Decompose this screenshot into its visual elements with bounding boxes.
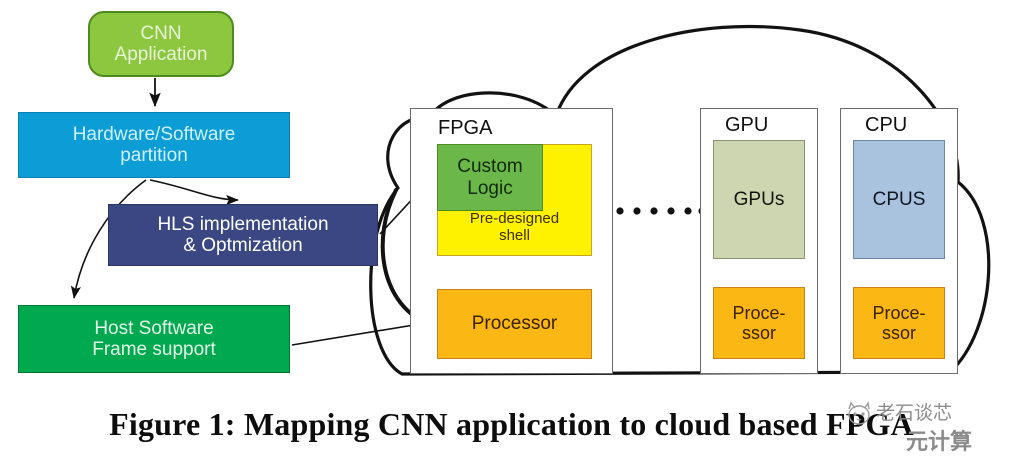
cnn-application-line1: CNN — [90, 23, 232, 44]
gpu-processor-line2: ssor — [714, 323, 804, 343]
cpu-compute-label: CPUS — [854, 189, 944, 210]
node-host-software[interactable]: Host Software Frame support — [18, 305, 290, 373]
gpu-processor-line1: Proce- — [714, 303, 804, 323]
cpu-compute-block[interactable]: CPUS — [853, 140, 945, 259]
figure-container: CNN Application Hardware/Software partit… — [0, 0, 1023, 462]
shell-label-line2: shell — [438, 228, 591, 245]
fpga-processor-label: Processor — [438, 313, 591, 334]
fpga-processor[interactable]: Processor — [437, 289, 592, 359]
gpu-compute-block[interactable]: GPUs — [713, 140, 805, 259]
host-software-line2: Frame support — [19, 339, 289, 360]
partition-line1: Hardware/Software — [19, 124, 289, 145]
hls-line2: & Optmization — [109, 235, 377, 256]
device-title-fpga: FPGA — [438, 117, 492, 140]
cnn-application-line2: Application — [90, 44, 232, 65]
figure-caption: Figure 1: Mapping CNN application to clo… — [0, 406, 1023, 443]
device-title-gpu: GPU — [725, 114, 768, 137]
host-software-line1: Host Software — [19, 318, 289, 339]
device-ellipsis-icon — [616, 207, 705, 214]
node-hardware-software-partition[interactable]: Hardware/Software partition — [18, 112, 290, 178]
partition-line2: partition — [19, 145, 289, 166]
custom-logic-line1: Custom — [438, 156, 542, 177]
node-hls-implementation[interactable]: HLS implementation & Optmization — [108, 204, 378, 266]
cpu-processor-line1: Proce- — [854, 303, 944, 323]
custom-logic-line2: Logic — [438, 178, 542, 199]
cpu-processor-line2: ssor — [854, 323, 944, 343]
hls-line1: HLS implementation — [109, 214, 377, 235]
fpga-custom-logic[interactable]: Custom Logic — [437, 144, 543, 211]
device-title-cpu: CPU — [865, 114, 907, 137]
node-cnn-application[interactable]: CNN Application — [88, 11, 234, 77]
shell-label-line1: Pre-designed — [438, 211, 591, 228]
connector-partition-to-hls — [150, 180, 238, 200]
cpu-processor[interactable]: Proce- ssor — [853, 287, 945, 359]
gpu-processor[interactable]: Proce- ssor — [713, 287, 805, 359]
gpu-compute-label: GPUs — [714, 189, 804, 210]
